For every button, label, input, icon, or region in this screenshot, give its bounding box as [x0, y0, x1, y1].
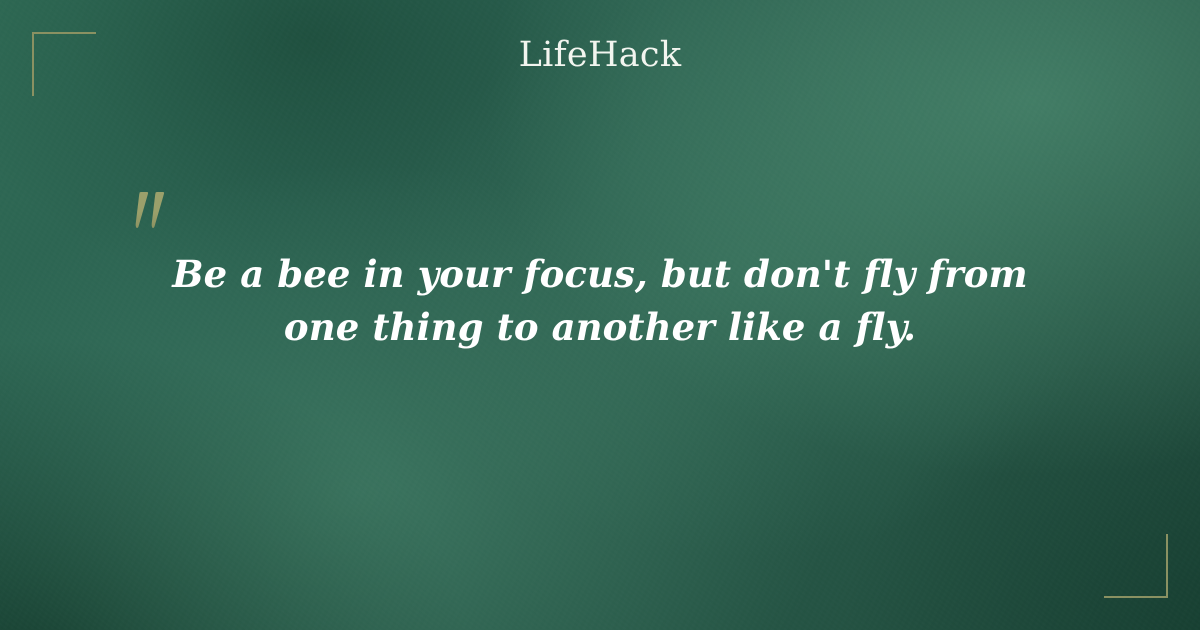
quote-mark-stroke-left: [133, 192, 149, 228]
quote-mark-stroke-right: [149, 192, 165, 228]
quote-mark-icon: [132, 190, 176, 232]
quote-block: Be a bee in your focus, but don't fly fr…: [130, 190, 1070, 353]
lifehack-logo[interactable]: LifeHack: [0, 38, 1200, 73]
quote-text: Be a bee in your focus, but don't fly fr…: [130, 190, 1070, 353]
quote-card: LifeHack Be a bee in your focus, but don…: [0, 0, 1200, 630]
corner-bracket-bottom-right-icon: [1104, 534, 1168, 598]
